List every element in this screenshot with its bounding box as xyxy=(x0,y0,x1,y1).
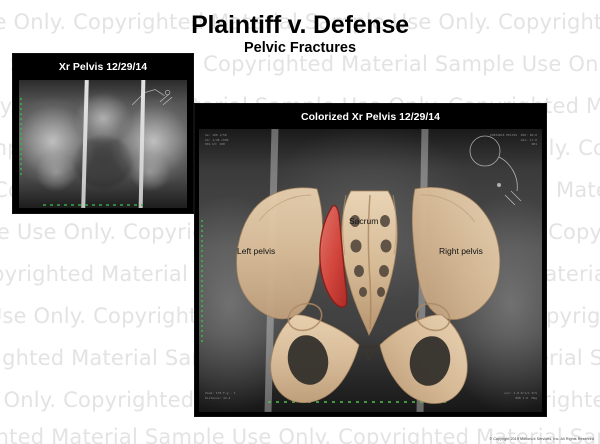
colorized-image: Se: 100 1/50 Im: 1/48 x500 001 kV: 100 P… xyxy=(199,129,542,412)
xray-panel: Xr Pelvis 12/29/14 xyxy=(12,53,194,214)
copyright-footer: © Copyright 2019 MotionLit Services, Inc… xyxy=(489,437,594,441)
page-title: Plaintiff v. Defense xyxy=(0,12,600,38)
colorized-panel-title: Colorized Xr Pelvis 12/29/14 xyxy=(195,111,546,123)
xray-traction-bar-left xyxy=(81,80,89,208)
watermark-row: Sample Use Only. Copyrighted Material Sa… xyxy=(0,425,600,444)
xray-marker-icon xyxy=(127,88,177,111)
colorized-panel: Se: 100 1/50 Im: 1/48 x500 001 kV: 100 P… xyxy=(194,103,547,417)
anatomy-label-left-pelvis: Left pelvis xyxy=(237,246,275,256)
xray-image xyxy=(19,80,187,208)
title-block: Plaintiff v. Defense Pelvic Fractures xyxy=(0,12,600,57)
anatomy-label-sacrum: Sacrum xyxy=(349,216,378,226)
anatomy-label-right-pelvis: Right pelvis xyxy=(439,246,483,256)
xray-scale-strip xyxy=(43,204,144,206)
pelvis-illustration xyxy=(199,129,542,412)
xray-scale-ruler xyxy=(20,98,22,177)
xray-panel-title: Xr Pelvis 12/29/14 xyxy=(13,61,193,73)
page-subtitle: Pelvic Fractures xyxy=(0,41,600,57)
